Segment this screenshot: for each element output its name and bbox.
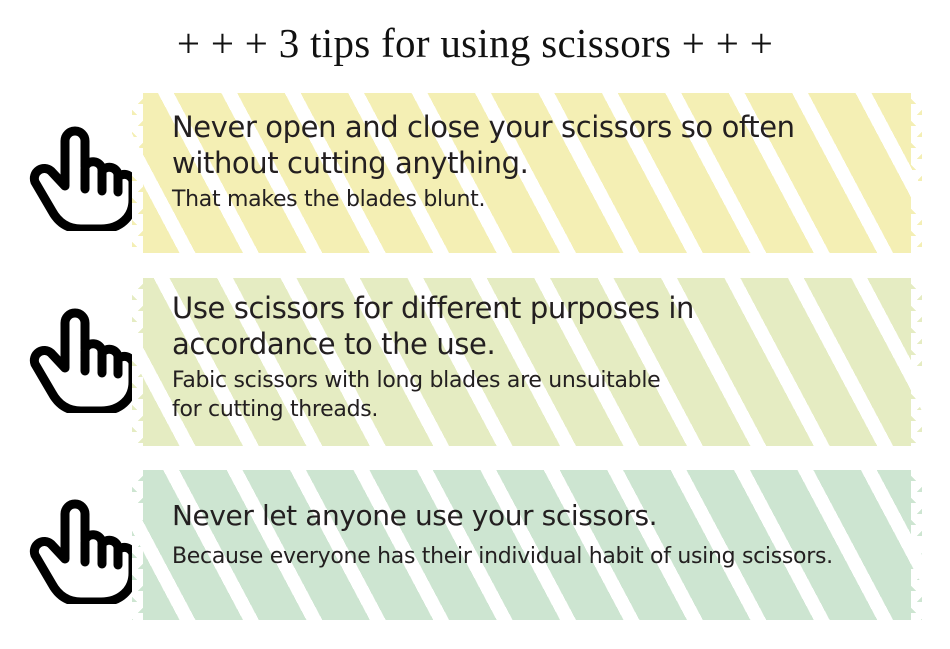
tip-row: Never open and close your scissors so of…	[0, 93, 950, 253]
tip-text: Never let anyone use your scissors. Beca…	[172, 498, 930, 571]
tip-headline: Use scissors for different purposes in a…	[172, 290, 930, 362]
pointing-hand-icon	[27, 107, 137, 231]
tip-text: Never open and close your scissors so of…	[172, 109, 930, 214]
pointing-hand-icon	[27, 289, 137, 413]
torn-edge-left	[132, 278, 143, 446]
torn-edge-left	[132, 470, 143, 620]
tip-headline: Never open and close your scissors so of…	[172, 109, 930, 181]
torn-edge-left	[132, 93, 143, 253]
tip-subtext: Because everyone has their individual ha…	[172, 542, 930, 571]
page-title: + + + 3 tips for using scissors + + +	[0, 18, 950, 68]
tip-headline: Never let anyone use your scissors.	[172, 498, 930, 534]
tip-subtext: That makes the blades blunt.	[172, 185, 930, 214]
tip-text: Use scissors for different purposes in a…	[172, 290, 930, 424]
tip-row: Use scissors for different purposes in a…	[0, 278, 950, 446]
tip-row: Never let anyone use your scissors. Beca…	[0, 470, 950, 620]
tip-subtext: Fabic scissors with long blades are unsu…	[172, 366, 930, 424]
pointing-hand-icon	[27, 480, 137, 604]
